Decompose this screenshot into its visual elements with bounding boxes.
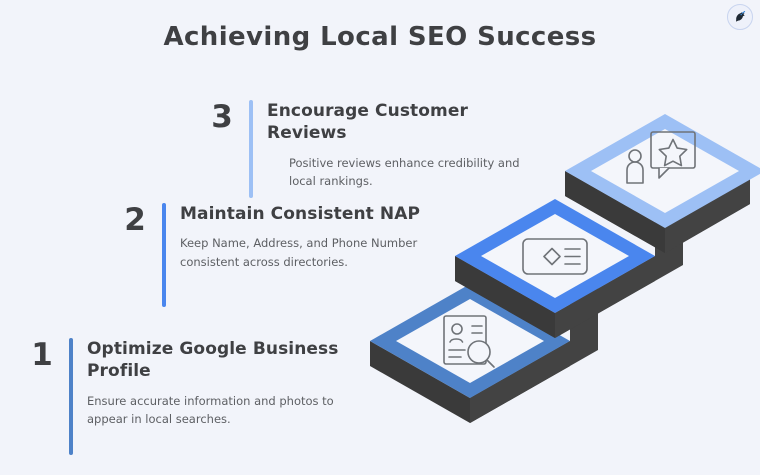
step-number-2: 2: [118, 203, 152, 236]
step-accent-bar-1: [69, 338, 73, 455]
step-heading-1: Optimize Google Business Profile: [87, 338, 355, 383]
step-number-3: 3: [205, 100, 239, 133]
step-description-1: Ensure accurate information and photos t…: [87, 392, 355, 428]
step-accent-bar-3: [249, 100, 253, 198]
step-accent-bar-2: [162, 203, 166, 307]
step-number-1: 1: [25, 338, 59, 371]
step-item-1: 1 Optimize Google Business Profile Ensur…: [25, 338, 355, 455]
staircase-graphic: [360, 88, 760, 475]
isometric-staircase: [360, 88, 760, 475]
page-title: Achieving Local SEO Success: [0, 22, 760, 52]
